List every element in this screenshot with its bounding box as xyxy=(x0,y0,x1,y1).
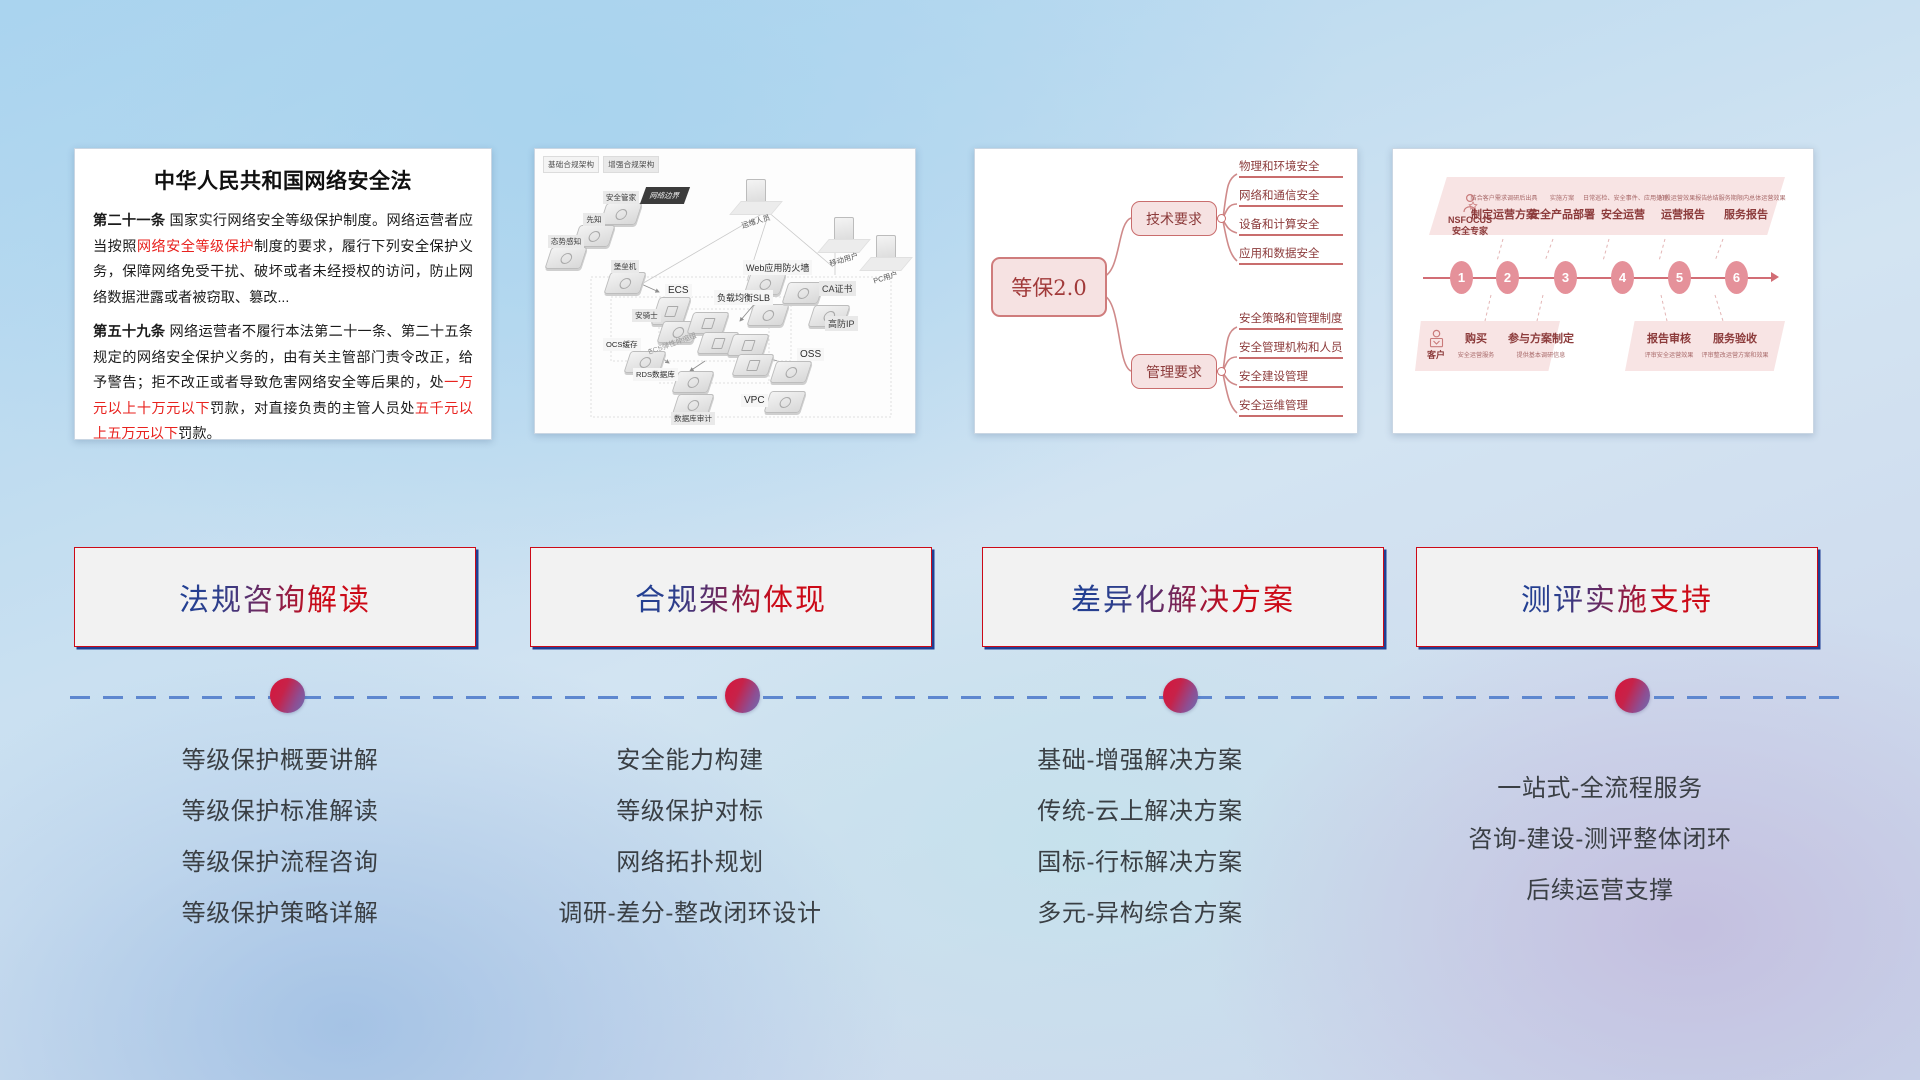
list-item: 国标-行标解决方案 xyxy=(930,837,1350,888)
step-name: 服务报告 xyxy=(1724,209,1768,221)
step-name: 报告审核 xyxy=(1647,333,1691,345)
node-ecs-group-a xyxy=(690,312,726,334)
card-service-timeline: NSFOCUS 安全专家 结合客户需求调研后出具 制定运营方案 实施方案 安全产… xyxy=(1392,148,1814,434)
node-label: 态势感知 xyxy=(548,235,584,248)
step-name: 参与方案制定 xyxy=(1508,333,1574,345)
node-ca-certificate: CA证书 xyxy=(785,282,821,304)
law-title: 中华人民共和国网络安全法 xyxy=(93,165,473,195)
mindmap-branch-technical: 技术要求 xyxy=(1131,201,1217,236)
node-anti-ddos-ip: 高防IP xyxy=(811,305,847,327)
platform-shape xyxy=(817,239,871,253)
node-ecs-group-c xyxy=(730,334,766,356)
leaf-underline xyxy=(1239,415,1343,417)
node-label: 数据库审计 xyxy=(671,412,715,425)
leaf-underline xyxy=(1239,357,1343,359)
badge-network-boundary: 网络边界 xyxy=(640,187,690,204)
item-list-2: 安全能力构建 等级保护对标 网络拓扑规划 调研-差分-整改闭环设计 xyxy=(470,735,910,939)
section-title-text: 法规咨询解读 xyxy=(179,575,371,619)
node-slb: 负载均衡SLB xyxy=(750,304,786,326)
node-label: CA证书 xyxy=(819,281,856,296)
nsfocus-timeline: NSFOCUS 安全专家 结合客户需求调研后出具 制定运营方案 实施方案 安全产… xyxy=(1393,149,1813,433)
node-security-butler: 安全管家 xyxy=(603,203,639,225)
law-p1-highlight: 网络安全等级保护 xyxy=(137,239,254,255)
list-item: 传统-云上解决方案 xyxy=(930,786,1350,837)
list-item: 等级保护流程咨询 xyxy=(70,837,490,888)
leaf-underline xyxy=(1239,234,1343,236)
node-situational-awareness: 态势感知 xyxy=(548,247,584,269)
timeline-number: 2 xyxy=(1496,261,1519,294)
mindmap-leaf: 物理和环境安全 xyxy=(1239,158,1320,174)
leaf-underline xyxy=(1239,263,1343,265)
step-name: 安全运营 xyxy=(1601,209,1645,221)
node-label: 安全管家 xyxy=(603,191,639,204)
timeline-step-bottom: 服务验收 评审整改运营方案和效果 xyxy=(1698,329,1772,359)
mindmap-leaf: 设备和计算安全 xyxy=(1239,216,1320,232)
step-name: 购买 xyxy=(1465,333,1487,345)
platform-shape xyxy=(859,257,913,271)
section-title-box-4[interactable]: 测评实施支持 xyxy=(1416,547,1818,647)
list-item: 等级保护策略详解 xyxy=(70,888,490,939)
server-icon xyxy=(544,247,587,269)
leaf-underline xyxy=(1239,205,1343,207)
timeline-axis xyxy=(1423,277,1773,279)
customer-person-icon xyxy=(1428,329,1445,348)
item-list-1: 等级保护概要讲解 等级保护标准解读 等级保护流程咨询 等级保护策略详解 xyxy=(70,735,490,939)
step-name: 运营报告 xyxy=(1661,209,1705,221)
section-title-row: 法规咨询解读 合规架构体现 差异化解决方案 测评实施支持 xyxy=(0,547,1920,652)
node-label: 堡垒机 xyxy=(611,260,640,273)
section-item-lists: 等级保护概要讲解 等级保护标准解读 等级保护流程咨询 等级保护策略详解 安全能力… xyxy=(0,735,1920,955)
node-bastion-host: 堡垒机 xyxy=(607,272,643,294)
item-list-4: 一站式-全流程服务 咨询-建设-测评整体闭环 后续运营支撑 xyxy=(1390,763,1810,916)
monitor-icon xyxy=(876,235,896,259)
step-name: 服务验收 xyxy=(1713,333,1757,345)
user-ops-staff: 运维人员 xyxy=(735,179,777,227)
storage-icon xyxy=(769,361,812,383)
node-label: ECS xyxy=(665,284,692,297)
list-item: 咨询-建设-测评整体闭环 xyxy=(1390,814,1810,865)
step-caption: 评审整改运营方案和效果 xyxy=(1698,350,1772,359)
timeline-node-4[interactable] xyxy=(1615,678,1650,713)
mindmap-leaf: 安全运维管理 xyxy=(1239,397,1308,413)
timeline-step-top: 总结服务期限内总体运营效果 服务报告 xyxy=(1703,193,1789,223)
server-icon xyxy=(603,272,646,294)
law-paragraph-59: 第五十九条 网络运营者不履行本法第二十一条、第二十五条规定的网络安全保护义务的，… xyxy=(93,320,473,440)
timeline-number: 6 xyxy=(1725,261,1748,294)
node-label: Web应用防火墙 xyxy=(743,260,812,275)
collapse-dot-icon[interactable] xyxy=(1217,367,1226,376)
server-icon xyxy=(731,354,774,376)
list-item: 一站式-全流程服务 xyxy=(1390,763,1810,814)
monitor-icon xyxy=(746,179,766,203)
card-cloud-architecture: 基础合规架构 增强合规架构 xyxy=(534,148,916,434)
load-balancer-icon xyxy=(746,304,789,326)
node-ecs-group-d xyxy=(735,354,771,376)
timeline-step-bottom: 参与方案制定 提供基本调研信息 xyxy=(1501,329,1581,359)
card-dengbao-mindmap: 等保2.0 技术要求 管理要求 物理和环境安全 网络和通信安全 设备和计算安全 … xyxy=(974,148,1358,434)
law-article-59-label: 第五十九条 xyxy=(93,324,165,340)
list-item: 网络拓扑规划 xyxy=(470,837,910,888)
mindmap-leaf: 应用和数据安全 xyxy=(1239,245,1320,261)
node-database-audit: 数据库审计 xyxy=(675,394,711,416)
node-rds-database: RDS数据库 xyxy=(675,371,711,393)
server-icon xyxy=(599,203,642,225)
list-item: 基础-增强解决方案 xyxy=(930,735,1350,786)
list-item: 多元-异构综合方案 xyxy=(930,888,1350,939)
step-caption: 安全运营服务 xyxy=(1448,350,1504,359)
leaf-underline xyxy=(1239,328,1343,330)
expert-line-2: 安全专家 xyxy=(1452,226,1488,236)
mindmap-leaf: 网络和通信安全 xyxy=(1239,187,1320,203)
leaf-underline xyxy=(1239,176,1343,178)
mobile-icon xyxy=(834,217,854,241)
timeline-step-bottom: 报告审核 评审安全运营效果 xyxy=(1638,329,1700,359)
law-p2-c: 罚款。 xyxy=(178,426,221,440)
list-item: 等级保护对标 xyxy=(470,786,910,837)
node-label: 先知 xyxy=(583,213,604,226)
user-pc: PC用户 xyxy=(865,235,907,283)
section-title-box-1[interactable]: 法规咨询解读 xyxy=(74,547,476,647)
list-item: 调研-差分-整改闭环设计 xyxy=(470,888,910,939)
list-item: 后续运营支撑 xyxy=(1390,865,1810,916)
list-item: 等级保护标准解读 xyxy=(70,786,490,837)
timeline-node-2[interactable] xyxy=(725,678,760,713)
platform-shape xyxy=(729,201,783,215)
mindmap-leaf: 安全建设管理 xyxy=(1239,368,1308,384)
node-label: 安骑士 xyxy=(632,309,661,322)
item-list-3: 基础-增强解决方案 传统-云上解决方案 国标-行标解决方案 多元-异构综合方案 xyxy=(930,735,1350,939)
node-label: RDS数据库 xyxy=(633,368,678,381)
list-item: 等级保护概要讲解 xyxy=(70,735,490,786)
mindmap-diagram: 等保2.0 技术要求 管理要求 物理和环境安全 网络和通信安全 设备和计算安全 … xyxy=(975,149,1357,433)
node-label: 负载均衡SLB xyxy=(714,290,773,305)
mindmap-root: 等保2.0 xyxy=(991,257,1107,317)
step-caption: 总结服务期限内总体运营效果 xyxy=(1703,193,1789,202)
timeline-dashed-line xyxy=(70,696,1850,699)
architecture-diagram: 基础合规架构 增强合规架构 xyxy=(535,149,915,433)
step-caption: 评审安全运营效果 xyxy=(1638,350,1700,359)
node-vpc: VPC xyxy=(767,391,803,413)
mindmap-branch-management: 管理要求 xyxy=(1131,354,1217,389)
card-cybersecurity-law: 中华人民共和国网络安全法 第二十一条 国家实行网络安全等级保护制度。网络运营者应… xyxy=(74,148,492,440)
timeline-number: 5 xyxy=(1668,261,1691,294)
timeline-number: 1 xyxy=(1450,261,1473,294)
timeline-node-1[interactable] xyxy=(270,678,305,713)
vpc-icon xyxy=(763,391,806,413)
timeline-arrow-icon xyxy=(1771,272,1779,282)
law-article-21-label: 第二十一条 xyxy=(93,213,165,229)
node-label: OCS缓存 xyxy=(603,338,641,351)
mindmap-leaf: 安全管理机构和人员 xyxy=(1239,339,1343,355)
node-label: 高防IP xyxy=(825,316,858,331)
step-caption: 提供基本调研信息 xyxy=(1501,350,1581,359)
section-title-box-3[interactable]: 差异化解决方案 xyxy=(982,547,1384,647)
section-title-text: 合规架构体现 xyxy=(635,575,827,619)
customer-label: 客户 xyxy=(1427,350,1445,360)
law-text-block: 中华人民共和国网络安全法 第二十一条 国家实行网络安全等级保护制度。网络运营者应… xyxy=(75,149,491,439)
node-label: VPC xyxy=(741,394,768,407)
mindmap-leaf: 安全策略和管理制度 xyxy=(1239,310,1343,326)
node-label: OSS xyxy=(797,348,824,361)
timeline-number: 3 xyxy=(1554,261,1577,294)
database-icon xyxy=(671,371,714,393)
progress-timeline xyxy=(70,695,1850,699)
section-title-text: 差异化解决方案 xyxy=(1071,575,1295,619)
node-oss: OSS xyxy=(773,361,809,383)
timeline-node-3[interactable] xyxy=(1163,678,1198,713)
law-paragraph-21: 第二十一条 国家实行网络安全等级保护制度。网络运营者应当按照网络安全等级保护制度… xyxy=(93,209,473,311)
leaf-underline xyxy=(1239,386,1343,388)
timeline-step-bottom: 购买 安全运营服务 xyxy=(1448,329,1504,359)
law-p2-b: 罚款，对直接负责的主管人员处 xyxy=(210,401,415,417)
user-mobile: 移动用户 xyxy=(823,217,865,265)
collapse-dot-icon[interactable] xyxy=(1217,214,1226,223)
section-title-text: 测评实施支持 xyxy=(1521,575,1713,619)
list-item: 安全能力构建 xyxy=(470,735,910,786)
server-icon xyxy=(726,334,769,356)
illustration-cards: 中华人民共和国网络安全法 第二十一条 国家实行网络安全等级保护制度。网络运营者应… xyxy=(0,148,1920,438)
timeline-number: 4 xyxy=(1611,261,1634,294)
section-title-box-2[interactable]: 合规架构体现 xyxy=(530,547,932,647)
